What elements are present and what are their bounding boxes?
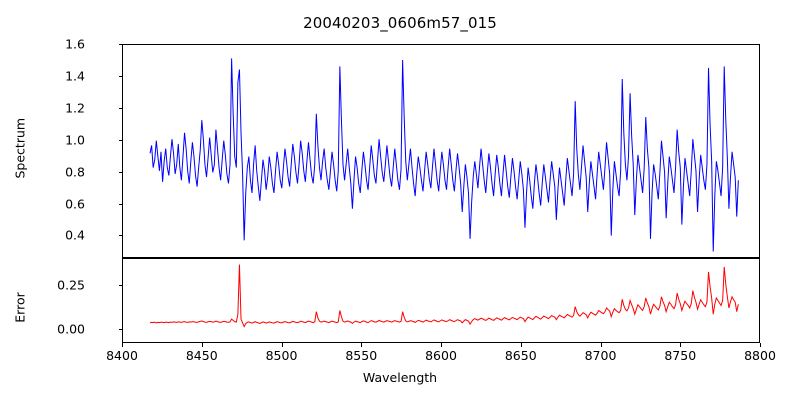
xtick-mark [282, 343, 283, 347]
ytick-mark-spectrum [119, 140, 123, 141]
xtick-label: 8400 [106, 348, 138, 363]
ytick-mark-spectrum [119, 76, 123, 77]
ytick-label-spectrum: 1.0 [65, 132, 85, 147]
error-line-series [123, 259, 759, 342]
xtick-label: 8600 [425, 348, 457, 363]
xtick-mark [760, 343, 761, 347]
ytick-label-spectrum: 1.2 [65, 100, 85, 115]
xtick-label: 8800 [744, 348, 776, 363]
ytick-mark-spectrum [119, 108, 123, 109]
ytick-label-spectrum: 0.6 [65, 196, 85, 211]
xtick-mark [521, 343, 522, 347]
ytick-mark-spectrum [119, 44, 123, 45]
ytick-label-spectrum: 0.4 [65, 228, 85, 243]
ytick-mark-error [119, 329, 123, 330]
xtick-mark [680, 343, 681, 347]
xtick-mark [202, 343, 203, 347]
ytick-label-spectrum: 1.6 [65, 37, 85, 52]
xlabel: Wavelength [0, 370, 800, 385]
ylabel-error: Error [13, 288, 28, 328]
xtick-label: 8750 [664, 348, 696, 363]
ylabel-spectrum: Spectrum [13, 139, 28, 179]
xtick-mark [361, 343, 362, 347]
ytick-mark-spectrum [119, 204, 123, 205]
xtick-mark [441, 343, 442, 347]
spectrum-plot-area [122, 44, 760, 258]
ytick-label-error: 0.25 [57, 277, 85, 292]
ytick-label-spectrum: 1.4 [65, 68, 85, 83]
error-plot-area [122, 258, 760, 343]
spectrum-line-series [123, 45, 759, 257]
xtick-mark [122, 343, 123, 347]
ytick-label-error: 0.00 [57, 321, 85, 336]
figure-canvas: 20040203_0606m57_015 1.6 1.4 1.2 1.0 0.8… [0, 0, 800, 400]
xtick-label: 8700 [585, 348, 617, 363]
ytick-label-spectrum: 0.8 [65, 164, 85, 179]
figure-title: 20040203_0606m57_015 [0, 14, 800, 32]
xtick-label: 8650 [505, 348, 537, 363]
ytick-mark-spectrum [119, 172, 123, 173]
xtick-label: 8450 [186, 348, 218, 363]
xtick-mark [601, 343, 602, 347]
xtick-label: 8500 [266, 348, 298, 363]
ytick-mark-error [119, 285, 123, 286]
ytick-mark-spectrum [119, 235, 123, 236]
xtick-label: 8550 [345, 348, 377, 363]
